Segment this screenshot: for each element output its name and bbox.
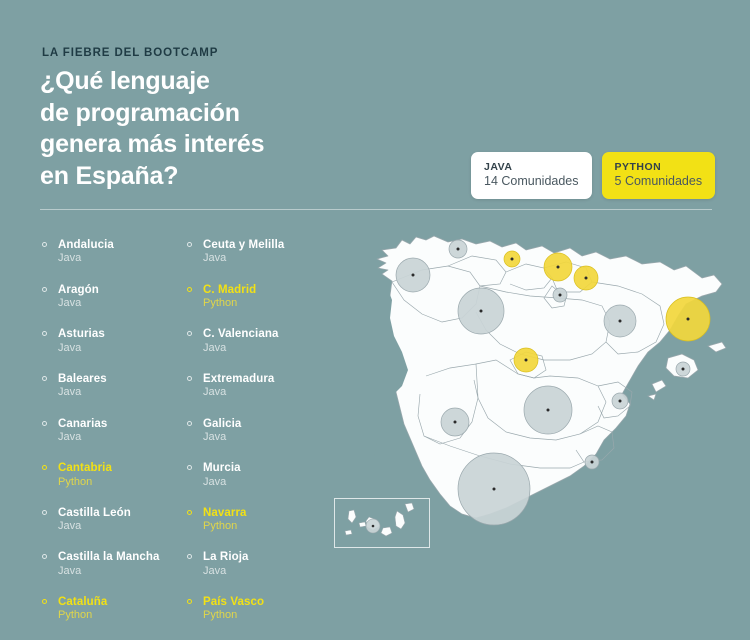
region-language: Python: [58, 476, 185, 490]
bubble-center-dot: [687, 318, 690, 321]
region-language: Java: [58, 565, 185, 579]
ibiza-island: [652, 380, 666, 392]
title-line-1: ¿Qué lenguaje: [40, 66, 370, 98]
bullet-icon: [42, 287, 47, 292]
region-language: Java: [203, 476, 330, 490]
region-name: La Rioja: [203, 550, 330, 564]
la-palma-island: [348, 510, 356, 523]
fuerteventura-island: [395, 511, 405, 529]
gran-canaria-island: [381, 527, 392, 536]
formentera-island: [648, 394, 656, 400]
title-line-4: en España?: [40, 161, 370, 193]
region-item[interactable]: AsturiasJava: [40, 327, 185, 355]
region-item[interactable]: Castilla la ManchaJava: [40, 550, 185, 578]
region-item[interactable]: GaliciaJava: [185, 417, 330, 445]
region-item[interactable]: La RiojaJava: [185, 550, 330, 578]
legend-java-language: JAVA: [484, 161, 579, 173]
region-name: País Vasco: [203, 595, 330, 609]
map-bubble[interactable]: [449, 240, 467, 258]
region-name: Andalucia: [58, 238, 185, 252]
region-name: Ceuta y Melilla: [203, 238, 330, 252]
region-language: Python: [203, 520, 330, 534]
el-hierro-island: [345, 530, 352, 535]
menorca-island: [708, 342, 726, 352]
legend-python-count: 5 Comunidades: [615, 175, 703, 189]
region-language: Java: [58, 297, 185, 311]
region-item[interactable]: BalearesJava: [40, 372, 185, 400]
bubble-center-dot: [511, 258, 514, 261]
title-line-2: de programación: [40, 98, 370, 130]
region-language: Java: [203, 386, 330, 400]
region-column-left: AndaluciaJavaAragónJavaAsturiasJavaBalea…: [40, 238, 185, 640]
map-bubble[interactable]: [666, 297, 710, 341]
region-item[interactable]: CataluñaPython: [40, 595, 185, 623]
bullet-icon: [42, 421, 47, 426]
region-language: Java: [58, 386, 185, 400]
legend-item-python[interactable]: PYTHON 5 Comunidades: [602, 152, 716, 199]
infographic-canvas: LA FIEBRE DEL BOOTCAMP ¿Qué lenguaje de …: [0, 0, 750, 610]
bullet-icon: [187, 554, 192, 559]
region-language: Java: [58, 252, 185, 266]
region-item[interactable]: Castilla LeónJava: [40, 506, 185, 534]
region-name: Aragón: [58, 283, 185, 297]
region-language: Java: [203, 252, 330, 266]
region-language: Python: [203, 609, 330, 623]
region-name: Baleares: [58, 372, 185, 386]
bullet-icon: [42, 331, 47, 336]
region-item[interactable]: C. MadridPython: [185, 283, 330, 311]
bullet-icon: [42, 465, 47, 470]
page-title: ¿Qué lenguaje de programación genera más…: [40, 66, 370, 192]
map-bubble[interactable]: [524, 386, 572, 434]
map-bubble[interactable]: [441, 408, 469, 436]
map-bubble[interactable]: [396, 258, 430, 292]
map-bubble[interactable]: [553, 288, 567, 302]
bubble-center-dot: [619, 400, 622, 403]
legend: JAVA 14 Comunidades PYTHON 5 Comunidades: [471, 152, 715, 199]
region-item[interactable]: Ceuta y MelillaJava: [185, 238, 330, 266]
region-item[interactable]: AndaluciaJava: [40, 238, 185, 266]
bubble-center-dot: [682, 368, 685, 371]
region-name: Navarra: [203, 506, 330, 520]
legend-item-java[interactable]: JAVA 14 Comunidades: [471, 152, 592, 199]
map-bubble[interactable]: [458, 288, 504, 334]
header-divider: [40, 209, 712, 210]
region-language: Java: [203, 565, 330, 579]
region-item[interactable]: MurciaJava: [185, 461, 330, 489]
bullet-icon: [187, 331, 192, 336]
region-name: Extremadura: [203, 372, 330, 386]
legend-java-count: 14 Comunidades: [484, 175, 579, 189]
bubble-center-dot: [557, 266, 560, 269]
region-item[interactable]: CantabriaPython: [40, 461, 185, 489]
bubble-center-dot: [591, 461, 594, 464]
canarias-bubble-dot: [372, 525, 375, 528]
canary-islands-inset: [334, 498, 430, 548]
region-language: Python: [58, 609, 185, 623]
bullet-icon: [42, 376, 47, 381]
bullet-icon: [42, 242, 47, 247]
bullet-icon: [187, 376, 192, 381]
bullet-icon: [187, 510, 192, 515]
map-bubble[interactable]: [574, 266, 598, 290]
region-item[interactable]: C. ValencianaJava: [185, 327, 330, 355]
region-item[interactable]: ExtremaduraJava: [185, 372, 330, 400]
bubble-center-dot: [480, 310, 483, 313]
bubble-center-dot: [619, 320, 622, 323]
region-language: Java: [58, 520, 185, 534]
map-bubble[interactable]: [585, 455, 599, 469]
bullet-icon: [187, 287, 192, 292]
region-name: Castilla León: [58, 506, 185, 520]
region-item[interactable]: AragónJava: [40, 283, 185, 311]
kicker-label: LA FIEBRE DEL BOOTCAMP: [42, 47, 218, 59]
region-item[interactable]: CanariasJava: [40, 417, 185, 445]
bubble-center-dot: [454, 421, 457, 424]
bubble-center-dot: [457, 248, 460, 251]
bubble-center-dot: [493, 488, 496, 491]
bullet-icon: [42, 599, 47, 604]
region-language: Java: [58, 342, 185, 356]
map-bubble[interactable]: [514, 348, 538, 372]
region-language: Python: [203, 297, 330, 311]
region-name: Cataluña: [58, 595, 185, 609]
bubble-center-dot: [412, 274, 415, 277]
region-language: Java: [203, 342, 330, 356]
bullet-icon: [187, 599, 192, 604]
map-bubble[interactable]: [604, 305, 636, 337]
map-bubble[interactable]: [458, 453, 530, 525]
title-line-3: genera más interés: [40, 129, 370, 161]
region-name: Castilla la Mancha: [58, 550, 185, 564]
region-item[interactable]: NavarraPython: [185, 506, 330, 534]
region-column-right: Ceuta y MelillaJavaC. MadridPythonC. Val…: [185, 238, 330, 640]
map-bubble[interactable]: [676, 362, 690, 376]
region-name: Galicia: [203, 417, 330, 431]
lanzarote-island: [405, 503, 414, 512]
bullet-icon: [187, 421, 192, 426]
region-name: Murcia: [203, 461, 330, 475]
map-bubble[interactable]: [544, 253, 572, 281]
map-bubble[interactable]: [612, 393, 628, 409]
map-bubble[interactable]: [504, 251, 520, 267]
region-item[interactable]: País VascoPython: [185, 595, 330, 623]
bubble-center-dot: [547, 409, 550, 412]
region-list: AndaluciaJavaAragónJavaAsturiasJavaBalea…: [40, 238, 330, 640]
bullet-icon: [187, 242, 192, 247]
bubble-center-dot: [525, 359, 528, 362]
region-name: Cantabria: [58, 461, 185, 475]
bullet-icon: [187, 465, 192, 470]
canary-islands-svg: [335, 499, 429, 547]
bullet-icon: [42, 554, 47, 559]
region-name: Canarias: [58, 417, 185, 431]
bubble-center-dot: [585, 277, 588, 280]
region-language: Java: [58, 431, 185, 445]
region-language: Java: [203, 431, 330, 445]
bullet-icon: [42, 510, 47, 515]
region-name: Asturias: [58, 327, 185, 341]
region-name: C. Valenciana: [203, 327, 330, 341]
region-name: C. Madrid: [203, 283, 330, 297]
la-gomera-island: [359, 522, 366, 527]
legend-python-language: PYTHON: [615, 161, 703, 173]
bubble-center-dot: [559, 294, 562, 297]
